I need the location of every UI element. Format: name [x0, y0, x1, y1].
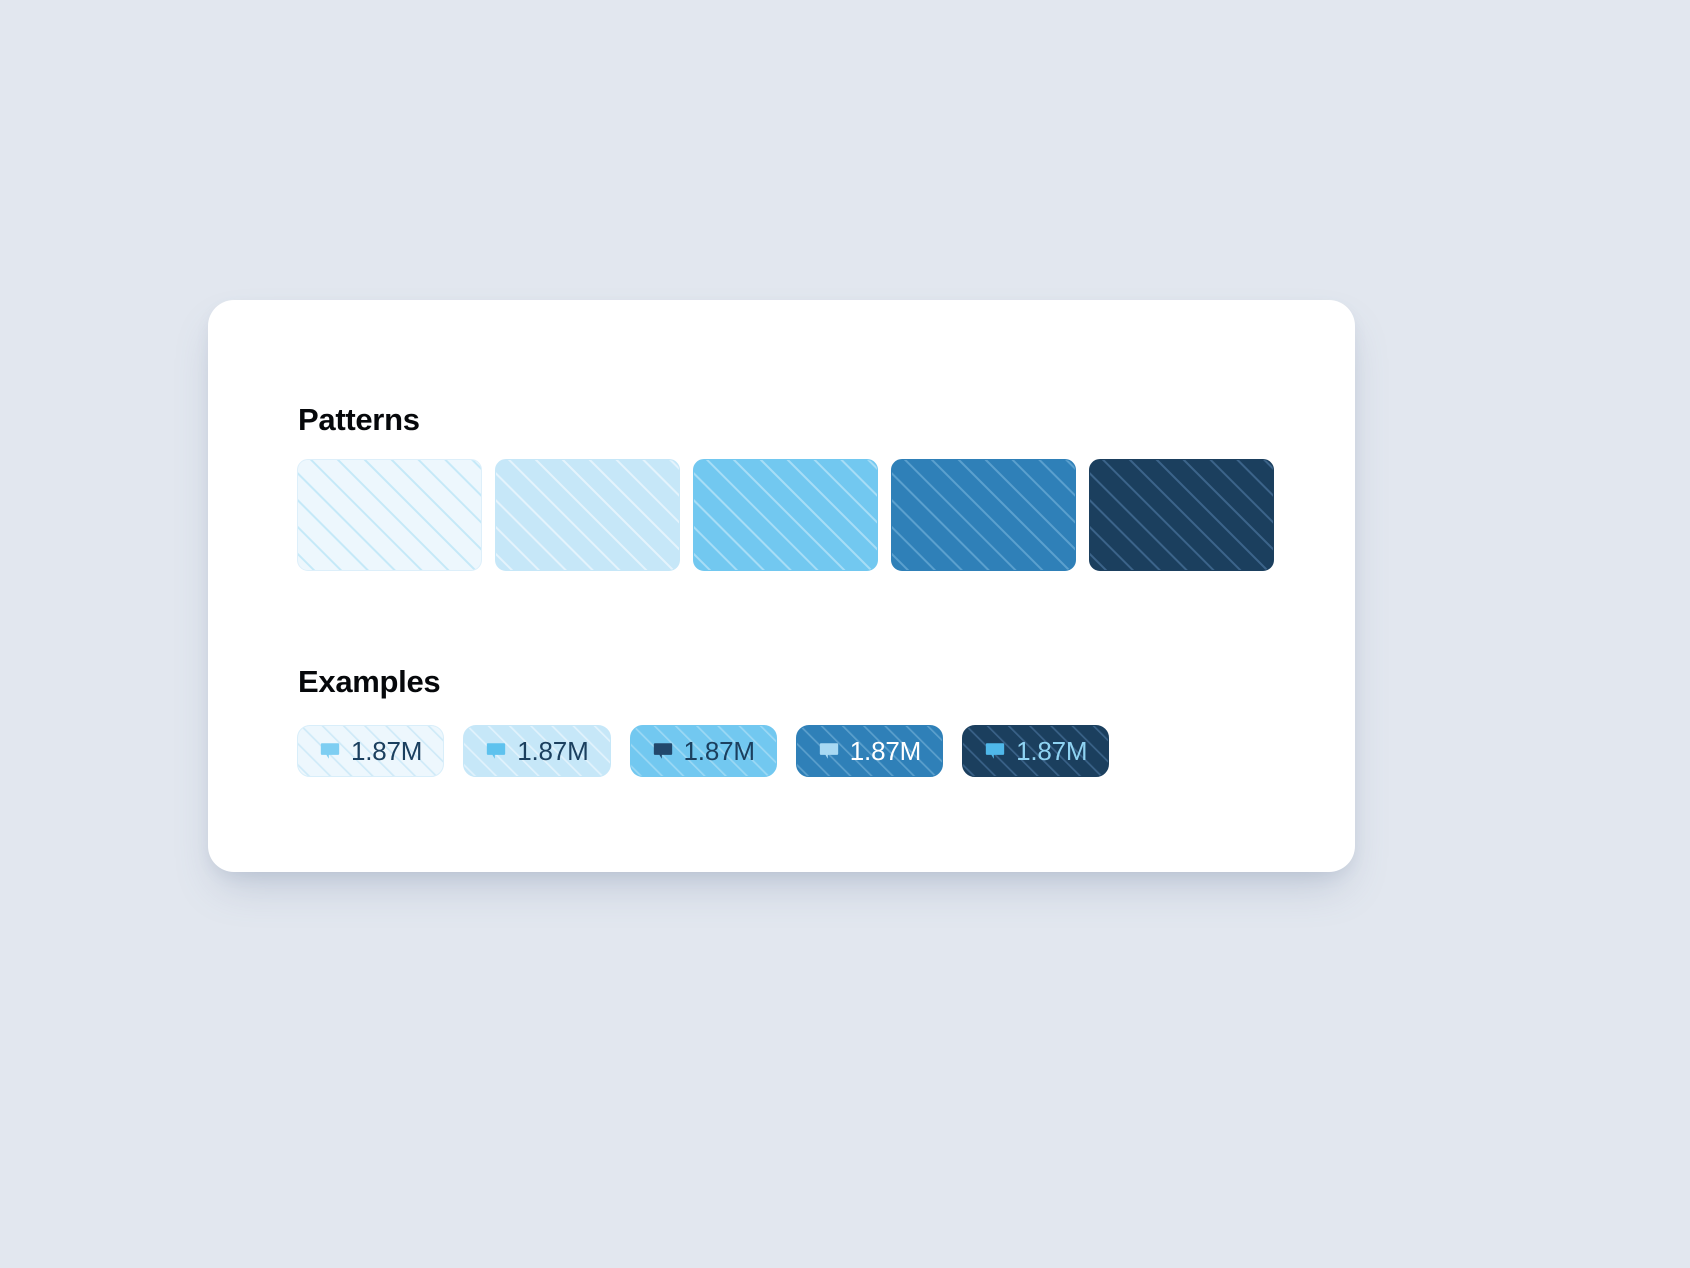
pattern-swatch — [693, 459, 878, 571]
example-badge[interactable]: 1.87M — [463, 725, 610, 777]
example-badge[interactable]: 1.87M — [297, 725, 444, 777]
pattern-swatch — [495, 459, 680, 571]
pattern-swatch-row — [297, 459, 1274, 571]
example-badge-value: 1.87M — [351, 738, 422, 764]
example-badge[interactable]: 1.87M — [630, 725, 777, 777]
example-badge-value: 1.87M — [850, 738, 921, 764]
comment-icon — [984, 740, 1006, 762]
example-badge[interactable]: 1.87M — [962, 725, 1109, 777]
patterns-section-title: Patterns — [298, 404, 420, 435]
comment-icon — [652, 740, 674, 762]
example-badge[interactable]: 1.87M — [796, 725, 943, 777]
example-badge-value: 1.87M — [1016, 738, 1087, 764]
pattern-swatch — [891, 459, 1076, 571]
comment-icon — [319, 740, 341, 762]
comment-icon — [818, 740, 840, 762]
pattern-swatch — [1089, 459, 1274, 571]
examples-section-title: Examples — [298, 666, 440, 697]
example-badge-row: 1.87M1.87M1.87M1.87M1.87M — [297, 725, 1109, 777]
pattern-swatch — [297, 459, 482, 571]
example-badge-value: 1.87M — [517, 738, 588, 764]
patterns-card: Patterns Examples 1.87M1.87M1.87M1.87M1.… — [208, 300, 1355, 872]
example-badge-value: 1.87M — [684, 738, 755, 764]
comment-icon — [485, 740, 507, 762]
